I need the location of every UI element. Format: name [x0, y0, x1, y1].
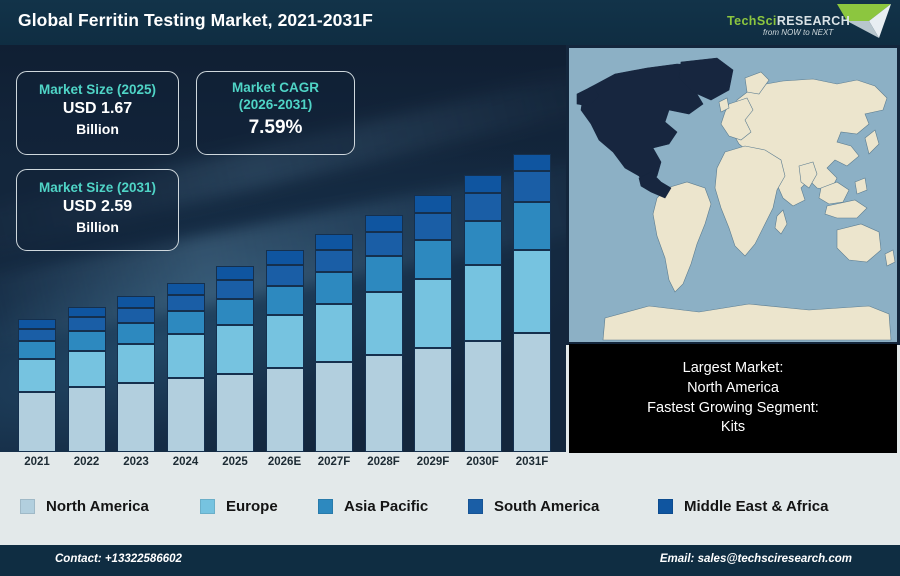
largest-market-value: North America — [687, 379, 779, 399]
bar-2030F — [464, 175, 502, 452]
legend-label: North America — [46, 498, 149, 515]
bar-segment-asia-pacific — [68, 331, 106, 351]
chart-legend: North AmericaEuropeAsia PacificSouth Ame… — [0, 480, 900, 545]
bar-segment-south-america — [365, 232, 403, 256]
bar-segment-asia-pacific — [18, 341, 56, 358]
legend-label: Europe — [226, 498, 278, 515]
page-title: Global Ferritin Testing Market, 2021-203… — [18, 10, 373, 31]
bar-segment-north-america — [167, 378, 205, 452]
bar-segment-south-america — [414, 213, 452, 240]
bar-segment-europe — [216, 325, 254, 373]
x-axis-tick-2031F: 2031F — [502, 456, 562, 468]
bar-segment-asia-pacific — [266, 286, 304, 315]
bar-segment-south-america — [315, 250, 353, 272]
bar-segment-middle-east-africa — [117, 296, 155, 308]
card-market-size-2025: Market Size (2025) USD 1.67 Billion — [16, 71, 179, 155]
legend-swatch — [318, 499, 333, 514]
bar-segment-asia-pacific — [117, 323, 155, 344]
logo-tagline: from NOW to NEXT — [763, 28, 833, 37]
bar-segment-middle-east-africa — [513, 154, 551, 171]
logo-brand-tech: TechSci — [727, 14, 777, 28]
bar-segment-europe — [414, 279, 452, 348]
legend-swatch — [468, 499, 483, 514]
legend-item-north-america[interactable]: North America — [20, 498, 149, 515]
bar-segment-north-america — [365, 355, 403, 452]
bar-segment-europe — [117, 344, 155, 383]
bar-segment-middle-east-africa — [18, 319, 56, 328]
card-title: Market Size (2025) — [17, 82, 178, 99]
card-title: Market CAGR — [197, 80, 354, 97]
highlight-info-box: Largest Market: North America Fastest Gr… — [569, 344, 897, 453]
legend-item-europe[interactable]: Europe — [200, 498, 278, 515]
logo-brand-research: RESEARCH — [777, 14, 850, 28]
bar-segment-north-america — [464, 341, 502, 452]
footer-contact: Contact: +13322586602 — [55, 553, 182, 565]
bar-segment-europe — [266, 315, 304, 368]
card-value: USD 2.59 — [17, 197, 178, 218]
bar-2031F — [513, 154, 551, 453]
bar-segment-south-america — [18, 329, 56, 342]
bar-segment-asia-pacific — [315, 272, 353, 304]
bar-segment-middle-east-africa — [365, 215, 403, 232]
bar-segment-asia-pacific — [365, 256, 403, 292]
bar-segment-south-america — [266, 265, 304, 286]
bar-2028F — [365, 215, 403, 452]
bar-segment-south-america — [68, 317, 106, 331]
legend-item-south-america[interactable]: South America — [468, 498, 599, 515]
bar-2027F — [315, 234, 353, 452]
bar-segment-north-america — [315, 362, 353, 452]
bar-segment-middle-east-africa — [414, 195, 452, 213]
bar-segment-middle-east-africa — [167, 283, 205, 296]
bar-segment-asia-pacific — [513, 202, 551, 250]
bar-2022 — [68, 307, 106, 452]
footer-bar: Contact: +13322586602 Email: sales@techs… — [0, 545, 900, 576]
bar-2026E — [266, 250, 304, 452]
bar-2029F — [414, 195, 452, 452]
legend-swatch — [20, 499, 35, 514]
x-axis-labels: 202120222023202420252026E2027F2028F2029F… — [0, 452, 566, 480]
bar-segment-europe — [365, 292, 403, 355]
legend-item-asia-pacific[interactable]: Asia Pacific — [318, 498, 428, 515]
card-title: Market Size (2031) — [17, 180, 178, 197]
bar-segment-europe — [315, 304, 353, 362]
bar-2025 — [216, 266, 254, 452]
world-map — [569, 48, 897, 342]
bar-segment-middle-east-africa — [216, 266, 254, 280]
bar-2023 — [117, 296, 155, 452]
bar-segment-europe — [68, 351, 106, 388]
legend-item-middle-east-africa[interactable]: Middle East & Africa — [658, 498, 828, 515]
fastest-segment-value: Kits — [721, 418, 745, 438]
bar-segment-europe — [464, 265, 502, 341]
bar-segment-south-america — [117, 308, 155, 323]
legend-label: Asia Pacific — [344, 498, 428, 515]
bar-segment-south-america — [464, 193, 502, 222]
bar-segment-north-america — [216, 374, 254, 452]
legend-label: Middle East & Africa — [684, 498, 828, 515]
bar-segment-middle-east-africa — [464, 175, 502, 192]
bar-segment-south-america — [513, 171, 551, 202]
map-land-antarctica — [603, 304, 891, 340]
techsci-logo[interactable]: TechSciRESEARCH from NOW to NEXT — [719, 2, 894, 44]
bar-segment-north-america — [117, 383, 155, 452]
card-value: USD 1.67 — [17, 99, 178, 120]
card-value: 7.59% — [197, 116, 354, 141]
legend-swatch — [200, 499, 215, 514]
bar-segment-middle-east-africa — [266, 250, 304, 265]
card-title-period: (2026-2031) — [197, 97, 354, 114]
bar-segment-north-america — [414, 348, 452, 452]
bar-segment-north-america — [68, 387, 106, 452]
bar-segment-europe — [18, 359, 56, 392]
bar-segment-south-america — [216, 280, 254, 298]
bar-segment-south-america — [167, 295, 205, 311]
bar-2024 — [167, 283, 205, 452]
card-unit: Billion — [17, 120, 178, 138]
legend-swatch — [658, 499, 673, 514]
header-bar: Global Ferritin Testing Market, 2021-203… — [0, 0, 900, 45]
footer-email: Email: sales@techsciresearch.com — [660, 553, 852, 565]
card-market-size-2031: Market Size (2031) USD 2.59 Billion — [16, 169, 179, 251]
bar-segment-north-america — [513, 333, 551, 452]
card-unit: Billion — [17, 218, 178, 236]
bar-segment-europe — [513, 250, 551, 333]
bar-segment-north-america — [266, 368, 304, 452]
world-map-svg — [569, 48, 897, 342]
bar-segment-middle-east-africa — [315, 234, 353, 250]
card-market-cagr: Market CAGR (2026-2031) 7.59% — [196, 71, 355, 155]
bar-segment-asia-pacific — [414, 240, 452, 279]
bar-segment-middle-east-africa — [68, 307, 106, 317]
bar-2021 — [18, 319, 56, 452]
fastest-segment-label: Fastest Growing Segment: — [647, 399, 819, 419]
bar-segment-north-america — [18, 392, 56, 452]
infographic-root: Global Ferritin Testing Market, 2021-203… — [0, 0, 900, 576]
bar-segment-asia-pacific — [464, 221, 502, 265]
bar-segment-asia-pacific — [167, 311, 205, 334]
bar-segment-asia-pacific — [216, 299, 254, 326]
bar-segment-europe — [167, 334, 205, 378]
logo-wordmark: TechSciRESEARCH — [727, 14, 867, 28]
legend-label: South America — [494, 498, 599, 515]
largest-market-label: Largest Market: — [683, 359, 784, 379]
